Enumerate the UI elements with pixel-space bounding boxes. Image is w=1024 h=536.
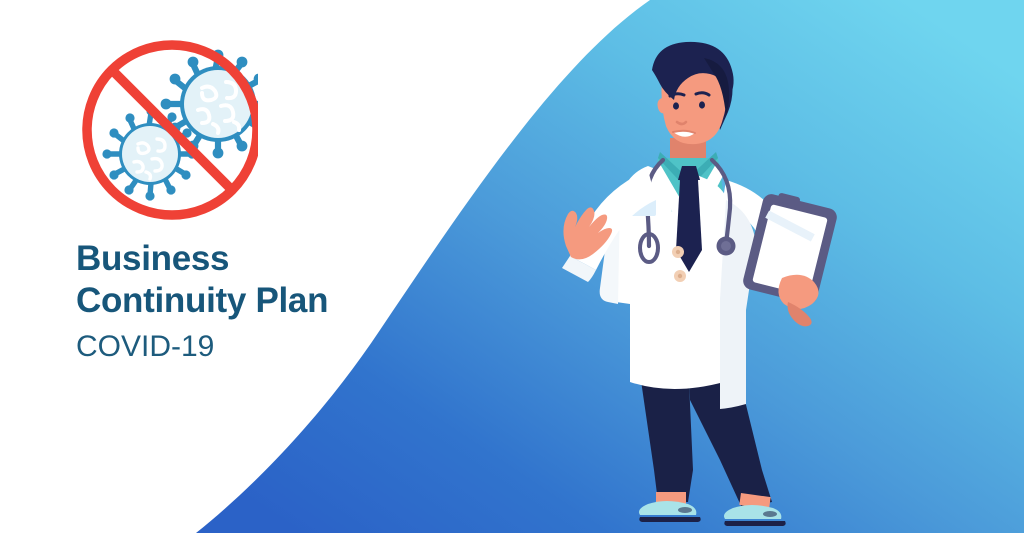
shoes [639, 492, 786, 526]
page-title-line-2: Continuity Plan [76, 280, 406, 322]
headline-block: Business Continuity Plan COVID-19 [76, 238, 406, 367]
page-title-line-1: Business [76, 238, 406, 280]
covid-business-continuity-banner: Business Continuity Plan COVID-19 [0, 0, 1024, 536]
no-virus-prohibition-icon [62, 38, 258, 222]
doctor-waving-with-clipboard [530, 40, 860, 536]
right-hand [778, 275, 818, 327]
page-subtitle: COVID-19 [76, 327, 406, 367]
head [652, 42, 734, 144]
